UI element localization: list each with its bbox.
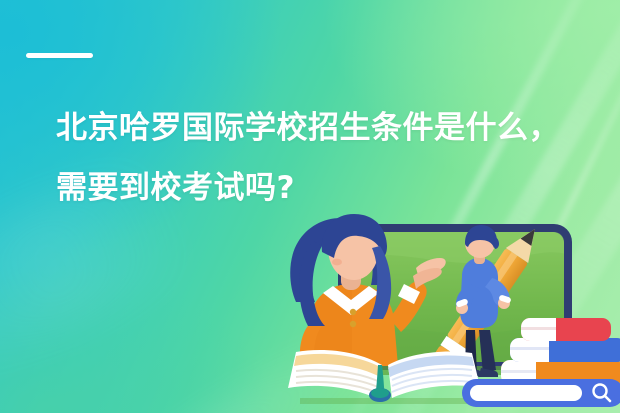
page-title: 北京哈罗国际学校招生条件是什么，需要到校考试吗? (56, 98, 561, 218)
article-cover-card: 北京哈罗国际学校招生条件是什么，需要到校考试吗? (0, 0, 620, 413)
accent-bar (26, 53, 93, 58)
